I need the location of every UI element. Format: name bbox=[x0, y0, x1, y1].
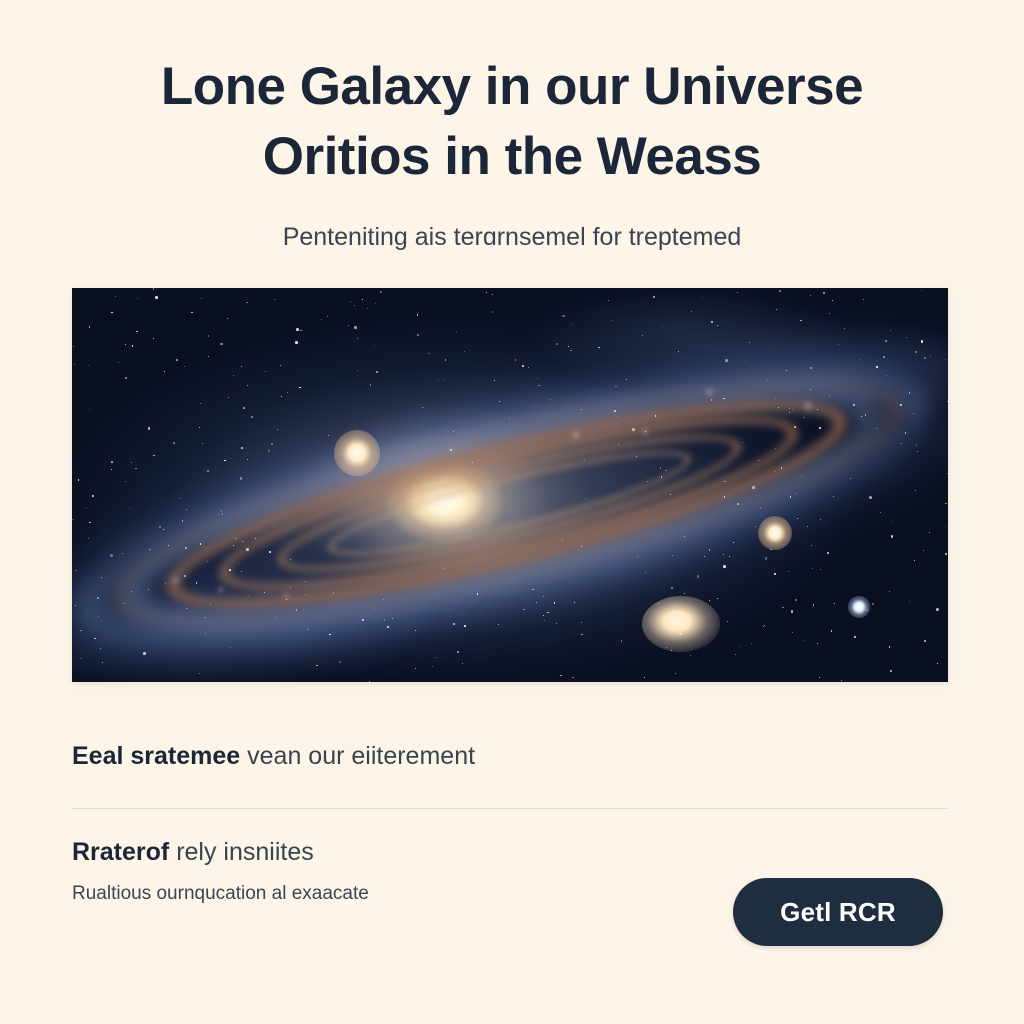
star-point bbox=[392, 618, 393, 619]
star-point bbox=[515, 359, 517, 361]
star-point bbox=[486, 292, 487, 293]
star-point bbox=[774, 573, 776, 575]
star-point bbox=[614, 410, 616, 412]
star-point bbox=[889, 591, 890, 592]
star-point bbox=[574, 602, 575, 603]
star-point bbox=[522, 365, 524, 367]
star-point bbox=[438, 380, 439, 381]
star-point bbox=[810, 295, 811, 296]
star-point bbox=[626, 379, 627, 380]
star-point bbox=[831, 630, 832, 631]
star-point bbox=[153, 455, 155, 457]
star-point bbox=[186, 608, 187, 609]
star-point bbox=[739, 646, 740, 647]
star-point bbox=[543, 596, 544, 597]
star-point bbox=[230, 647, 231, 648]
star-point bbox=[536, 602, 537, 603]
star-point bbox=[241, 447, 243, 449]
star-point bbox=[767, 380, 768, 381]
star-point bbox=[180, 498, 181, 499]
star-point bbox=[102, 662, 103, 663]
star-point bbox=[243, 407, 245, 409]
star-point bbox=[782, 607, 783, 608]
star-point bbox=[247, 385, 248, 386]
star-point bbox=[891, 521, 892, 522]
star-point bbox=[94, 638, 95, 639]
star-point bbox=[876, 366, 878, 368]
star-point bbox=[271, 443, 273, 445]
star-point bbox=[246, 302, 247, 303]
star-point bbox=[227, 318, 228, 319]
star-point bbox=[745, 361, 746, 362]
star-point bbox=[362, 619, 364, 621]
star-point bbox=[755, 526, 756, 527]
star-point bbox=[570, 350, 571, 351]
star-point bbox=[906, 337, 907, 338]
star-point bbox=[204, 617, 205, 618]
star-point bbox=[528, 367, 529, 368]
star-point bbox=[290, 587, 291, 588]
star-point bbox=[795, 599, 797, 601]
star-point bbox=[758, 460, 759, 461]
star-point bbox=[205, 633, 206, 634]
star-point bbox=[585, 498, 586, 499]
star-point bbox=[690, 655, 691, 656]
star-point bbox=[865, 414, 867, 416]
page-title-line-1: Lone Galaxy in our Universe bbox=[72, 52, 952, 122]
star-point bbox=[645, 572, 646, 573]
star-point bbox=[833, 496, 834, 497]
star-point bbox=[350, 301, 352, 303]
star-point bbox=[608, 300, 609, 301]
star-point bbox=[92, 495, 94, 497]
star-point bbox=[916, 444, 917, 445]
star-point bbox=[797, 518, 798, 519]
section-divider bbox=[72, 808, 948, 809]
star-point bbox=[89, 522, 90, 523]
star-point bbox=[274, 299, 275, 300]
star-point bbox=[823, 292, 825, 294]
star-point bbox=[684, 536, 685, 537]
star-point bbox=[98, 616, 100, 618]
star-point bbox=[729, 556, 730, 557]
lead-strong-text: Eeal sratemee bbox=[72, 742, 240, 770]
star-point bbox=[295, 341, 298, 344]
star-point bbox=[89, 409, 90, 410]
star-point bbox=[742, 442, 744, 444]
star-point bbox=[264, 592, 265, 593]
star-point bbox=[632, 428, 635, 431]
star-point bbox=[794, 426, 796, 428]
star-point bbox=[860, 359, 861, 360]
star-point bbox=[642, 335, 643, 336]
star-point bbox=[305, 581, 306, 582]
galaxy-image bbox=[72, 288, 948, 682]
page-title-line-2: Oritios in the Weass bbox=[72, 122, 952, 192]
star-field bbox=[72, 288, 948, 682]
star-point bbox=[947, 473, 948, 474]
star-point bbox=[807, 526, 808, 527]
star-point bbox=[789, 412, 790, 413]
star-point bbox=[810, 367, 812, 369]
star-point bbox=[644, 677, 645, 678]
star-point bbox=[717, 598, 718, 599]
star-point bbox=[417, 314, 419, 316]
star-point bbox=[233, 375, 234, 376]
star-point bbox=[930, 356, 931, 357]
star-point bbox=[615, 386, 617, 388]
star-point bbox=[453, 431, 454, 432]
star-point bbox=[812, 568, 813, 569]
star-point bbox=[72, 519, 73, 520]
star-point bbox=[269, 451, 270, 452]
star-point bbox=[764, 625, 765, 626]
star-point bbox=[817, 409, 818, 410]
star-point bbox=[228, 397, 229, 398]
star-point bbox=[917, 451, 918, 452]
star-point bbox=[543, 615, 544, 616]
star-point bbox=[598, 347, 600, 349]
star-point bbox=[218, 514, 219, 515]
star-point bbox=[75, 570, 77, 572]
star-point bbox=[462, 663, 463, 664]
footer-text-block: Rraterof rely insniites Rualtious ournqu… bbox=[72, 836, 369, 906]
star-point bbox=[838, 344, 839, 345]
star-point bbox=[450, 449, 452, 451]
star-point bbox=[924, 357, 926, 359]
star-point bbox=[915, 490, 916, 491]
star-point bbox=[428, 353, 429, 354]
star-point bbox=[781, 467, 783, 469]
star-point bbox=[333, 592, 334, 593]
star-point bbox=[370, 384, 372, 386]
star-point bbox=[672, 555, 673, 556]
star-point bbox=[435, 657, 436, 658]
media-container bbox=[72, 288, 948, 682]
star-point bbox=[646, 510, 647, 511]
star-point bbox=[749, 342, 750, 343]
star-point bbox=[125, 344, 126, 345]
star-point bbox=[444, 379, 445, 380]
star-point bbox=[492, 294, 493, 295]
star-point bbox=[492, 311, 493, 312]
star-point bbox=[568, 346, 569, 347]
star-point bbox=[348, 325, 350, 327]
star-point bbox=[890, 670, 892, 672]
star-point bbox=[886, 375, 887, 376]
star-point bbox=[155, 296, 158, 299]
star-point bbox=[148, 427, 151, 430]
star-point bbox=[207, 470, 209, 472]
star-point bbox=[286, 599, 287, 600]
star-point bbox=[165, 583, 166, 584]
star-point bbox=[247, 459, 248, 460]
star-point bbox=[737, 503, 739, 505]
foreground-star-bright-left bbox=[334, 430, 380, 476]
star-point bbox=[945, 359, 946, 360]
star-point bbox=[788, 571, 789, 572]
star-point bbox=[384, 619, 385, 620]
star-point bbox=[550, 399, 551, 400]
star-point bbox=[415, 630, 416, 631]
star-point bbox=[581, 634, 582, 635]
star-point bbox=[921, 340, 924, 343]
star-point bbox=[854, 636, 856, 638]
page-title: Lone Galaxy in our Universe Oritios in t… bbox=[72, 52, 952, 192]
star-point bbox=[727, 621, 728, 622]
page-subtitle: Penteniting ais terɑrnsemel for trepteme… bbox=[72, 221, 952, 254]
star-point bbox=[327, 316, 328, 317]
star-point bbox=[872, 603, 874, 605]
star-point bbox=[280, 365, 281, 366]
star-point bbox=[148, 589, 149, 590]
star-point bbox=[832, 300, 833, 301]
star-point bbox=[789, 408, 790, 409]
star-point bbox=[354, 305, 355, 306]
star-point bbox=[73, 346, 74, 347]
star-point bbox=[945, 553, 947, 555]
star-point bbox=[662, 326, 664, 328]
star-point bbox=[800, 320, 802, 322]
star-point bbox=[885, 340, 887, 342]
star-point bbox=[863, 299, 864, 300]
footer-heading-strong: Rraterof bbox=[72, 838, 169, 866]
star-point bbox=[612, 320, 613, 321]
star-point bbox=[339, 661, 341, 663]
star-point bbox=[200, 543, 201, 544]
star-point bbox=[477, 593, 479, 595]
star-point bbox=[229, 569, 231, 571]
star-point bbox=[665, 470, 667, 472]
star-point bbox=[909, 392, 910, 393]
star-point bbox=[251, 416, 253, 418]
star-point bbox=[383, 599, 384, 600]
star-point bbox=[417, 334, 419, 336]
star-point bbox=[617, 416, 618, 417]
star-point bbox=[655, 415, 657, 417]
star-point bbox=[924, 640, 926, 642]
star-point bbox=[923, 550, 924, 551]
star-point bbox=[89, 326, 91, 328]
star-point bbox=[704, 556, 705, 557]
star-point bbox=[445, 359, 447, 361]
star-point bbox=[191, 312, 192, 313]
star-point bbox=[208, 335, 209, 336]
foreground-star-white bbox=[848, 596, 870, 618]
star-point bbox=[210, 604, 211, 605]
star-point bbox=[647, 481, 648, 482]
star-point bbox=[78, 479, 80, 481]
star-point bbox=[702, 297, 703, 298]
star-point bbox=[653, 296, 656, 299]
star-point bbox=[137, 298, 138, 299]
star-point bbox=[538, 385, 539, 386]
star-point bbox=[723, 554, 724, 555]
star-point bbox=[287, 392, 288, 393]
cta-button[interactable]: Getl RCR bbox=[733, 878, 943, 946]
star-point bbox=[222, 513, 223, 514]
star-point bbox=[670, 494, 671, 495]
star-point bbox=[733, 542, 734, 543]
foreground-star-bright-right bbox=[758, 516, 792, 550]
star-point bbox=[125, 377, 127, 379]
star-point bbox=[547, 612, 549, 614]
star-point bbox=[196, 582, 197, 583]
star-point bbox=[537, 378, 538, 379]
star-point bbox=[914, 560, 915, 561]
star-point bbox=[661, 476, 663, 478]
star-point bbox=[299, 387, 300, 388]
lead-paragraph: Eeal sratemee vean our eiiterement bbox=[72, 740, 948, 773]
star-point bbox=[645, 431, 646, 432]
star-point bbox=[554, 602, 555, 603]
star-point bbox=[472, 462, 473, 463]
lead-normal-text: vean our eiiterement bbox=[240, 742, 475, 770]
star-point bbox=[101, 577, 102, 578]
star-point bbox=[913, 413, 914, 414]
star-point bbox=[374, 345, 375, 346]
star-point bbox=[80, 658, 82, 660]
star-point bbox=[556, 623, 557, 624]
star-point bbox=[945, 526, 946, 527]
star-point bbox=[422, 407, 424, 409]
star-point bbox=[801, 476, 802, 477]
star-point bbox=[909, 601, 910, 602]
star-point bbox=[200, 403, 201, 404]
star-point bbox=[290, 559, 291, 560]
star-point bbox=[357, 338, 358, 339]
star-point bbox=[684, 593, 685, 594]
star-point bbox=[556, 343, 558, 345]
star-point bbox=[296, 609, 298, 611]
star-point bbox=[817, 643, 818, 644]
star-point bbox=[367, 308, 368, 309]
star-point bbox=[281, 396, 282, 397]
star-point bbox=[711, 321, 713, 323]
star-point bbox=[735, 654, 736, 655]
star-point bbox=[678, 351, 679, 352]
star-point bbox=[820, 519, 821, 520]
star-point bbox=[947, 401, 948, 402]
star-point bbox=[811, 545, 812, 546]
star-point bbox=[202, 443, 203, 444]
star-point bbox=[921, 290, 922, 291]
star-point bbox=[168, 545, 169, 546]
star-point bbox=[810, 389, 811, 390]
star-point bbox=[915, 351, 916, 352]
star-point bbox=[675, 673, 676, 674]
star-point bbox=[220, 343, 223, 346]
star-point bbox=[88, 365, 89, 366]
star-point bbox=[803, 417, 805, 419]
star-point bbox=[456, 331, 457, 332]
star-point bbox=[499, 401, 500, 402]
star-point bbox=[201, 298, 202, 299]
star-point bbox=[221, 511, 222, 512]
star-point bbox=[618, 444, 619, 445]
star-point bbox=[432, 666, 433, 667]
star-point bbox=[621, 640, 623, 642]
star-point bbox=[125, 481, 126, 482]
star-point bbox=[709, 600, 710, 601]
star-point bbox=[241, 366, 242, 367]
star-point bbox=[737, 292, 738, 293]
star-point bbox=[185, 547, 187, 549]
star-point bbox=[850, 478, 851, 479]
star-point bbox=[775, 471, 776, 472]
star-point bbox=[240, 477, 243, 480]
star-point bbox=[184, 366, 185, 367]
star-point bbox=[241, 571, 242, 572]
star-point bbox=[637, 556, 638, 557]
star-point bbox=[164, 371, 165, 372]
star-point bbox=[80, 630, 82, 632]
star-point bbox=[207, 561, 208, 562]
star-point bbox=[779, 290, 781, 292]
star-point bbox=[544, 620, 545, 621]
star-point bbox=[369, 681, 370, 682]
star-point bbox=[861, 416, 862, 417]
star-point bbox=[819, 427, 821, 429]
star-point bbox=[75, 605, 76, 606]
star-point bbox=[316, 665, 318, 667]
star-point bbox=[691, 311, 693, 313]
card-header: Lone Galaxy in our Universe Oritios in t… bbox=[0, 0, 1024, 253]
star-point bbox=[88, 538, 89, 539]
star-point bbox=[876, 428, 877, 429]
article-card: Lone Galaxy in our Universe Oritios in t… bbox=[0, 0, 1024, 1024]
star-point bbox=[697, 575, 700, 578]
star-point bbox=[376, 371, 378, 373]
star-point bbox=[494, 380, 495, 381]
star-point bbox=[110, 554, 113, 557]
star-point bbox=[137, 331, 138, 332]
star-point bbox=[765, 557, 768, 560]
footer-heading-normal: rely insniites bbox=[169, 838, 314, 866]
star-point bbox=[572, 677, 574, 679]
star-point bbox=[775, 398, 776, 399]
star-point bbox=[937, 663, 938, 664]
star-point bbox=[111, 312, 113, 314]
star-point bbox=[374, 609, 376, 611]
star-point bbox=[118, 362, 119, 363]
star-point bbox=[829, 313, 830, 314]
star-point bbox=[760, 507, 762, 509]
star-point bbox=[532, 589, 533, 590]
companion-galaxy bbox=[642, 596, 720, 652]
star-point bbox=[776, 309, 777, 310]
star-point bbox=[901, 443, 902, 444]
star-point bbox=[132, 345, 133, 346]
star-point bbox=[321, 319, 322, 320]
star-point bbox=[184, 575, 186, 577]
star-point bbox=[176, 359, 178, 361]
star-point bbox=[122, 553, 123, 554]
star-point bbox=[443, 568, 444, 569]
star-point bbox=[307, 629, 308, 630]
star-point bbox=[276, 617, 277, 618]
star-point bbox=[725, 359, 728, 362]
card-footer: Rraterof rely insniites Rualtious ournqu… bbox=[72, 836, 948, 966]
star-point bbox=[804, 640, 805, 641]
star-point bbox=[775, 448, 776, 449]
star-point bbox=[890, 330, 891, 331]
star-point bbox=[945, 503, 947, 505]
star-point bbox=[709, 549, 711, 551]
star-point bbox=[354, 326, 357, 329]
star-point bbox=[841, 680, 842, 681]
star-point bbox=[464, 625, 466, 627]
